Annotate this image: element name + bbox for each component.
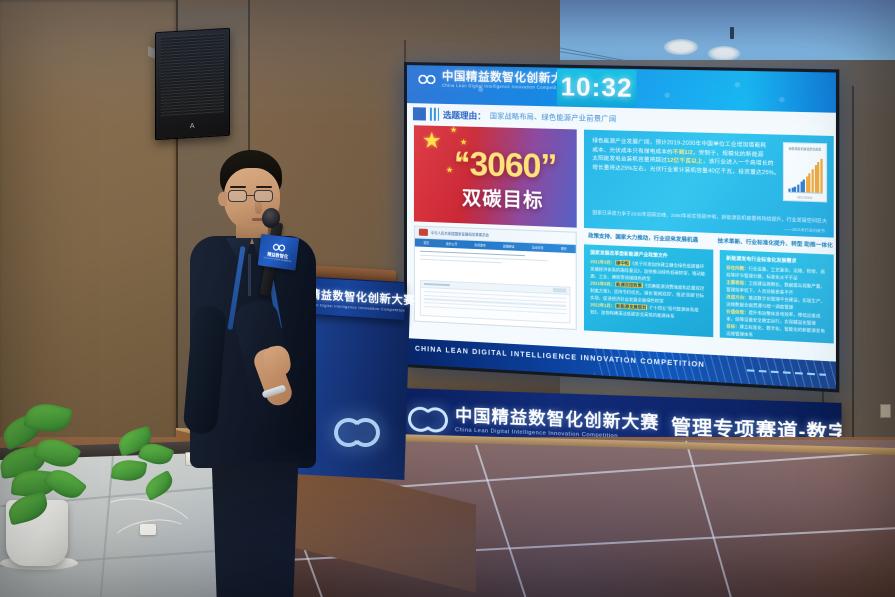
flag-star-icon: ★: [450, 126, 457, 134]
presenter: [186, 150, 318, 580]
title-bars-icon: [430, 108, 439, 121]
summary-p3-highlight: 12亿千瓦以上: [667, 158, 703, 165]
standard-item-tag: 改进方向：: [726, 294, 748, 300]
standard-item-tag: 主要表现：: [726, 279, 748, 285]
policy-item-mark: 新能源发展规划: [615, 303, 647, 310]
footer-dash-decor: [747, 369, 826, 376]
mini-chart-bars: [788, 158, 822, 193]
policy-item-tag: 2022年1月：: [590, 302, 615, 308]
infinity-loop-logo-icon: [417, 72, 437, 86]
presenter-shirt-placket: [248, 254, 251, 296]
mini-chart-title: 新能源装机容量增长趋势: [787, 146, 822, 151]
wall-socket-plate: [880, 404, 891, 418]
slide-title-label: 选题理由：: [443, 108, 486, 121]
stage-banner-brand: 中国精益数智化创新大赛 China Lean Digital Intellige…: [455, 401, 659, 441]
infinity-loop-logo-icon: [271, 242, 286, 253]
pa-speaker: A: [155, 28, 230, 141]
summary-p2-highlight: 不到1/2: [673, 149, 693, 156]
nav-item: 政务公开: [446, 242, 457, 246]
national-emblem-icon: [419, 229, 428, 236]
standard-item-tag: 目标：: [726, 323, 739, 329]
hero-flag-panel: ★ ★ ★ ★ ★ “3060” 双碳目标: [414, 125, 577, 227]
standard-item-tag: 价值体现：: [726, 308, 748, 314]
summary-p2b: ，受制于，规模化的新能源: [693, 150, 764, 158]
policy-box-right: 新能源发电行业标准化发展需求 存在问题：行业设备、工艺复杂，运维、检修、巡检等环…: [720, 250, 834, 344]
presenter-trousers: [208, 462, 302, 597]
clock-display: 10:32: [557, 69, 636, 108]
slide-title-row: 选题理由： 国家战略布局、绿色能源产业前景广阔: [413, 107, 616, 125]
summary-card: 绿色能源产业发展广阔，预计2019-2030年中国单位工业增加值能耗 成本、光伏…: [584, 130, 834, 238]
slide-brand-cn: 中国精益数智化创新大赛: [442, 71, 576, 86]
nav-item: 政策解读: [503, 244, 514, 249]
site-title: 中华人民共和国国家发展和改革委员会: [431, 230, 489, 237]
eyeglasses-bridge: [247, 195, 254, 196]
policy-item-mark: 能源双控政策: [615, 281, 643, 287]
policy-item-tag: 2021年3月：: [590, 259, 615, 265]
policy-item-tag: 2021年9月：: [590, 280, 615, 286]
speaker-brand-label: A: [190, 123, 195, 130]
summary-p3: 太阳能发电总装机容量将超过: [592, 156, 667, 164]
clock-time: 10:32: [561, 72, 633, 103]
led-presentation-screen: 中国精益数智化创新大赛 China Lean Digital Intellige…: [404, 62, 839, 393]
eyeglasses-icon: [228, 190, 247, 202]
speaker-grille-icon: [161, 33, 224, 117]
slide-body: 选题理由： 国家战略布局、绿色能源产业前景广阔 ★ ★ ★ ★ ★ “3060”…: [407, 103, 836, 362]
presenter-ear: [218, 192, 227, 206]
section-right-heading: 技术革新、行业标准化提升、转型 助推一体化: [718, 237, 833, 249]
infinity-loop-logo-icon: [334, 414, 380, 448]
flag-star-icon: ★: [446, 166, 453, 174]
wall-panel: [0, 0, 178, 455]
presenter-nose: [255, 202, 262, 214]
mini-chart-axis: [788, 192, 822, 194]
infinity-loop-logo-icon: [408, 402, 448, 431]
slide-brand: 中国精益数智化创新大赛 China Lean Digital Intellige…: [417, 70, 576, 90]
summary-p3b: ，该行业进入一个高增长的: [703, 159, 774, 167]
section-left-heading: 政策支持、国家大力推动，行业迎来发展机遇: [588, 232, 698, 244]
hero-subhead: 双碳目标: [462, 183, 544, 213]
summary-footnote: 国家已承诺力争于2030年前碳达峰、2060年前实现碳中和，新能源装机容量将持续…: [592, 210, 827, 225]
microphone-flag: 精益数智化 China Lean Digital Intelligence: [258, 234, 299, 271]
nav-item: 首页: [423, 241, 429, 245]
summary-source: ——2021年行业白皮书: [784, 227, 825, 234]
standard-item-tag: 存在问题：: [726, 265, 748, 271]
conference-photo-scene: A 中国精益数智化创新大赛 China Lean Digital Intelli…: [0, 0, 895, 597]
hero-headline: “3060”: [454, 144, 556, 186]
ceiling-hook: [730, 27, 734, 39]
slide-brand-en: China Lean Digital Intelligence Innovati…: [442, 83, 576, 91]
policy-box-left: 国家发展改革委新能源产业政策文件 2021年3月：碳中和《关于印发加快建立健全绿…: [584, 244, 713, 337]
nav-item: 互动交流: [532, 245, 544, 250]
mini-chart-xlabel: 2015-2030年: [784, 195, 826, 201]
nav-item: 新闻发布: [474, 243, 485, 248]
slide-title-text: 国家战略布局、绿色能源产业前景广阔: [490, 111, 616, 124]
wall-seam: [852, 86, 854, 486]
mini-bar-chart: 新能源装机容量增长趋势 2015-2030年: [783, 142, 827, 202]
title-square-marker: [413, 107, 426, 120]
downlight-icon: [708, 46, 740, 61]
eyeglasses-icon: [254, 190, 273, 202]
downlight-icon: [664, 39, 698, 55]
nav-item: 服务: [561, 246, 567, 250]
website-screenshot: 中华人民共和国国家发展和改革委员会 首页 政务公开 新闻发布 政策解读 互动交流…: [414, 225, 577, 330]
policy-item-mark: 碳中和: [615, 260, 630, 266]
stage-grid-line: [475, 445, 539, 597]
standard-box-title: 新能源发电行业标准化发展需求: [726, 255, 827, 266]
cable-adapter-brick: [140, 524, 156, 535]
flag-star-icon: ★: [422, 129, 442, 152]
site-table-panel: [420, 280, 571, 324]
